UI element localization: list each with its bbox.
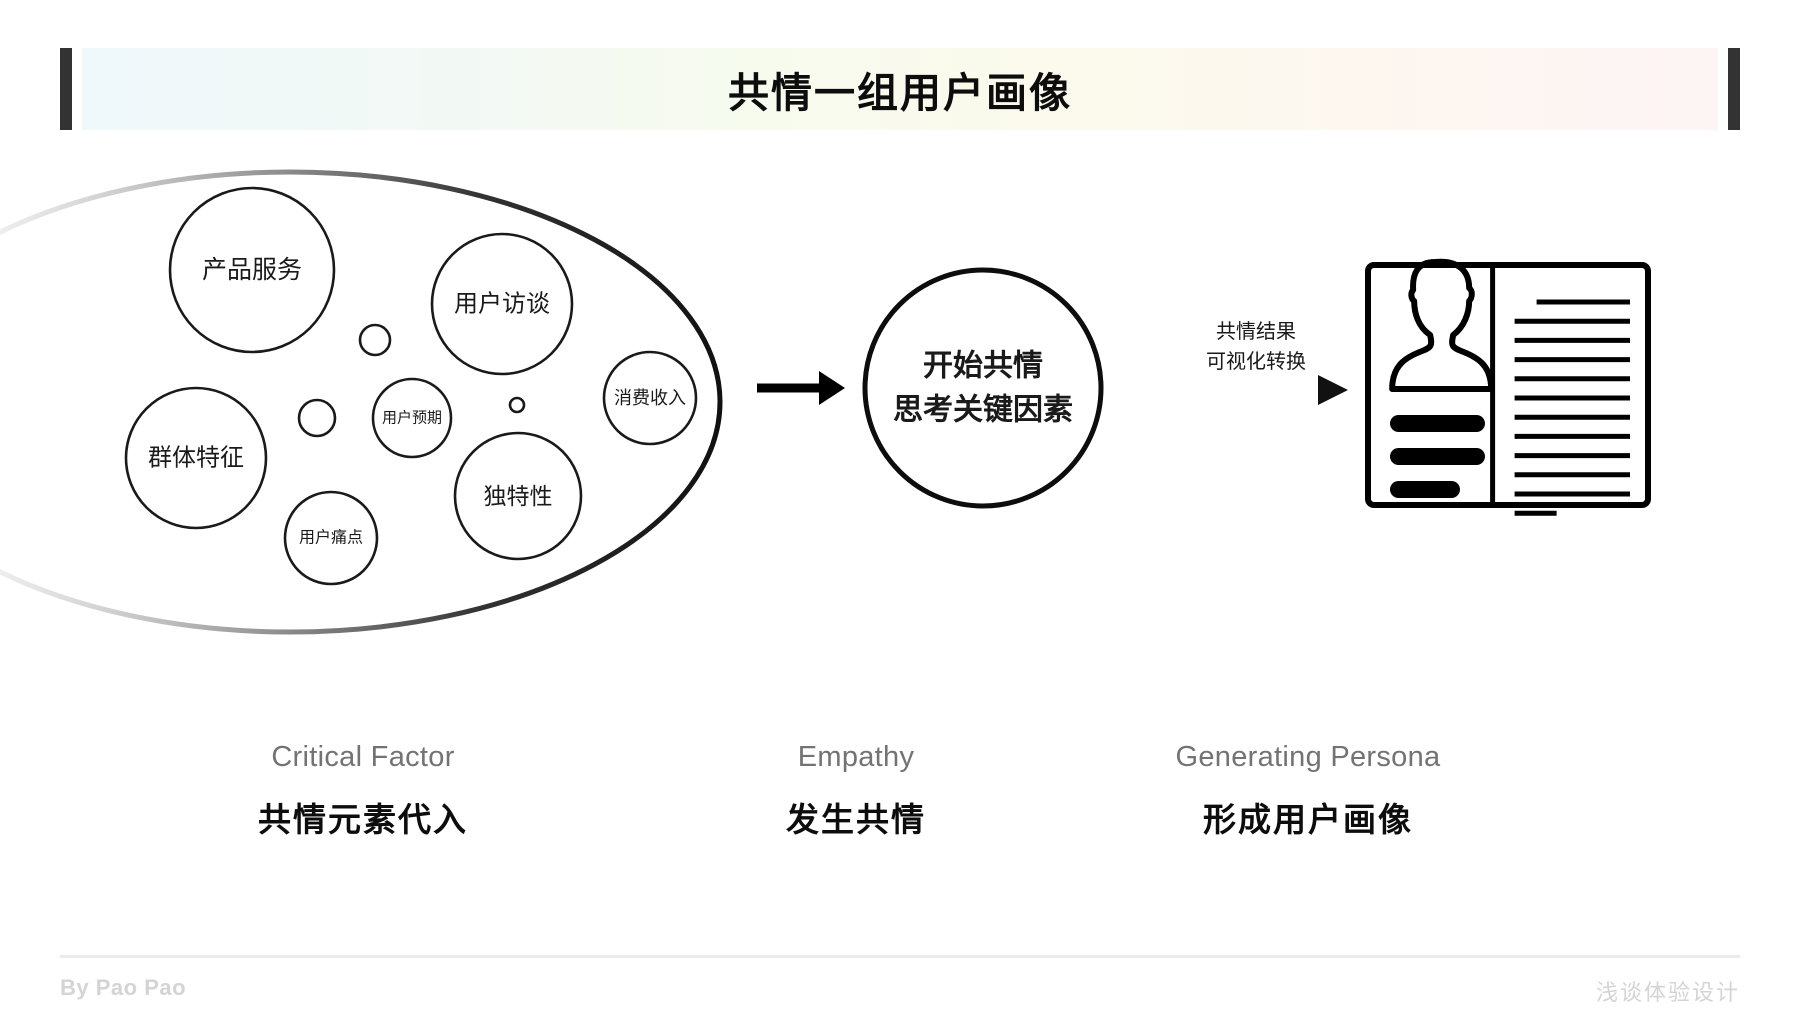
empathy-circle-line-1: 开始共情 — [923, 350, 1043, 383]
persona-bar-0 — [1390, 415, 1485, 432]
persona-bar-2 — [1390, 481, 1460, 498]
stage-captions: Critical Factor 共情元素代入 Empathy 发生共情 Gene… — [0, 740, 1800, 860]
arrow-empathy-to-persona: 共情结果 可视化转换 — [1148, 320, 1348, 405]
footer-divider — [60, 955, 1740, 958]
empathy-circle: 开始共情 思考关键因素 — [865, 270, 1101, 506]
empathy-circle-line-2: 思考关键因素 — [893, 394, 1073, 427]
caption-en-1: Critical Factor — [213, 740, 513, 775]
page-title: 共情一组用户画像 — [60, 48, 1740, 130]
caption-cn-1: 共情元素代入 — [213, 793, 513, 841]
persona-card-illustration — [1368, 262, 1648, 513]
footer: By Pao Pao 浅谈体验设计 — [60, 955, 1740, 1011]
arrow-cluster-to-empathy — [757, 371, 845, 405]
bubble-label-0: 产品服务 — [202, 256, 302, 284]
arrow-label-line-1: 共情结果 — [1216, 320, 1296, 343]
footer-author: By Pao Pao — [60, 975, 186, 1001]
bubble-dot-1 — [299, 400, 335, 436]
caption-empathy: Empathy 发生共情 — [706, 740, 1006, 841]
bubble-label-5: 独特性 — [484, 483, 553, 509]
bubble-label-1: 用户访谈 — [454, 291, 550, 318]
caption-generating-persona: Generating Persona 形成用户画像 — [1158, 740, 1458, 841]
caption-cn-3: 形成用户画像 — [1158, 793, 1458, 841]
header-banner: 共情一组用户画像 — [60, 48, 1740, 130]
bubble-label-3: 用户预期 — [382, 410, 442, 427]
bubble-label-4: 消费收入 — [614, 388, 686, 408]
arrow-label-line-2: 可视化转换 — [1206, 350, 1306, 373]
persona-bar-1 — [1390, 448, 1485, 465]
bubble-label-6: 用户痛点 — [299, 529, 363, 547]
bubble-dot-0 — [360, 325, 390, 355]
bubble-dot-2 — [510, 398, 524, 412]
caption-en-2: Empathy — [706, 740, 1006, 775]
diagram-canvas: 产品服务用户访谈群体特征用户预期消费收入独特性用户痛点 开始共情 思考关键因素 … — [0, 140, 1800, 780]
caption-en-3: Generating Persona — [1158, 740, 1458, 775]
diagram-svg: 产品服务用户访谈群体特征用户预期消费收入独特性用户痛点 开始共情 思考关键因素 … — [0, 140, 1800, 780]
footer-brand: 浅谈体验设计 — [1596, 975, 1740, 1007]
bubble-label-2: 群体特征 — [148, 445, 244, 472]
caption-cn-2: 发生共情 — [706, 793, 1006, 841]
caption-critical-factor: Critical Factor 共情元素代入 — [213, 740, 513, 841]
